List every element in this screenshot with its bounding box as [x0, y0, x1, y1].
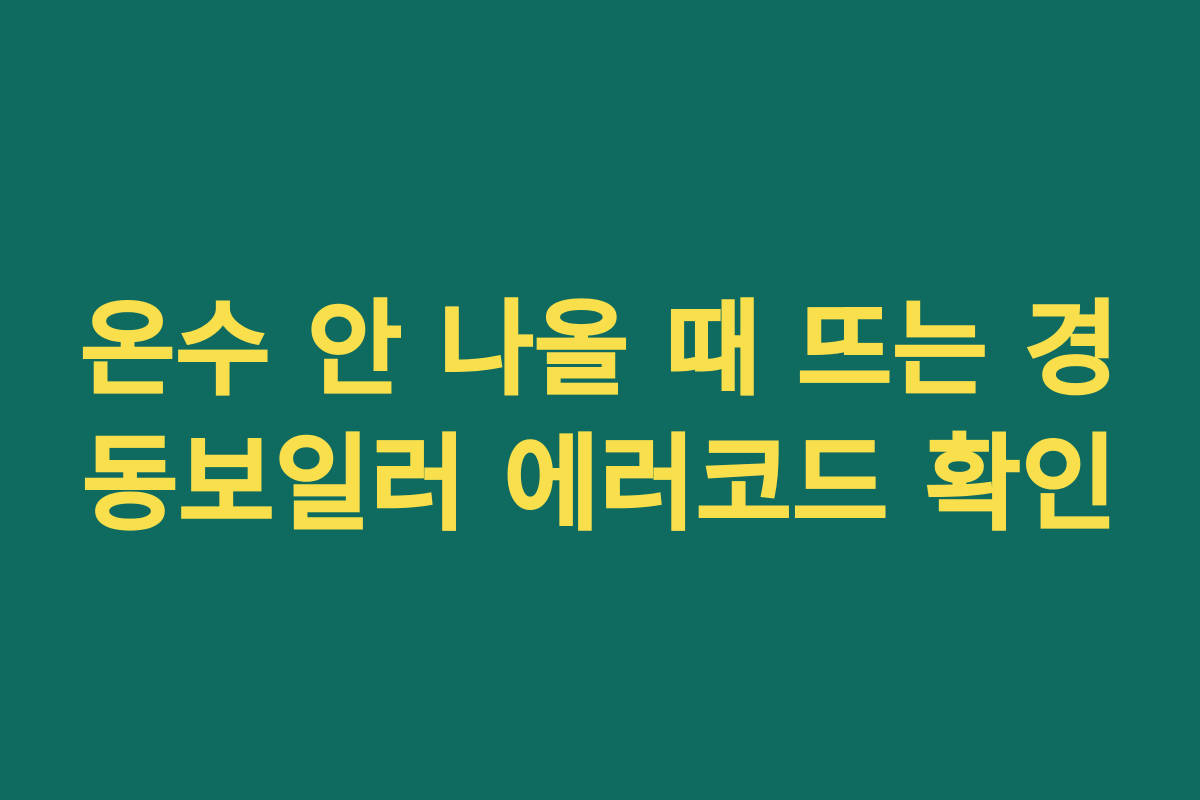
text-banner: 온수 안 나올 때 뜨는 경 동보일러 에러코드 확인 — [0, 0, 1200, 800]
headline-block: 온수 안 나올 때 뜨는 경 동보일러 에러코드 확인 — [0, 283, 1200, 551]
headline-line-2: 동보일러 에러코드 확인 — [0, 417, 1200, 551]
headline-line-1: 온수 안 나올 때 뜨는 경 — [0, 283, 1200, 417]
